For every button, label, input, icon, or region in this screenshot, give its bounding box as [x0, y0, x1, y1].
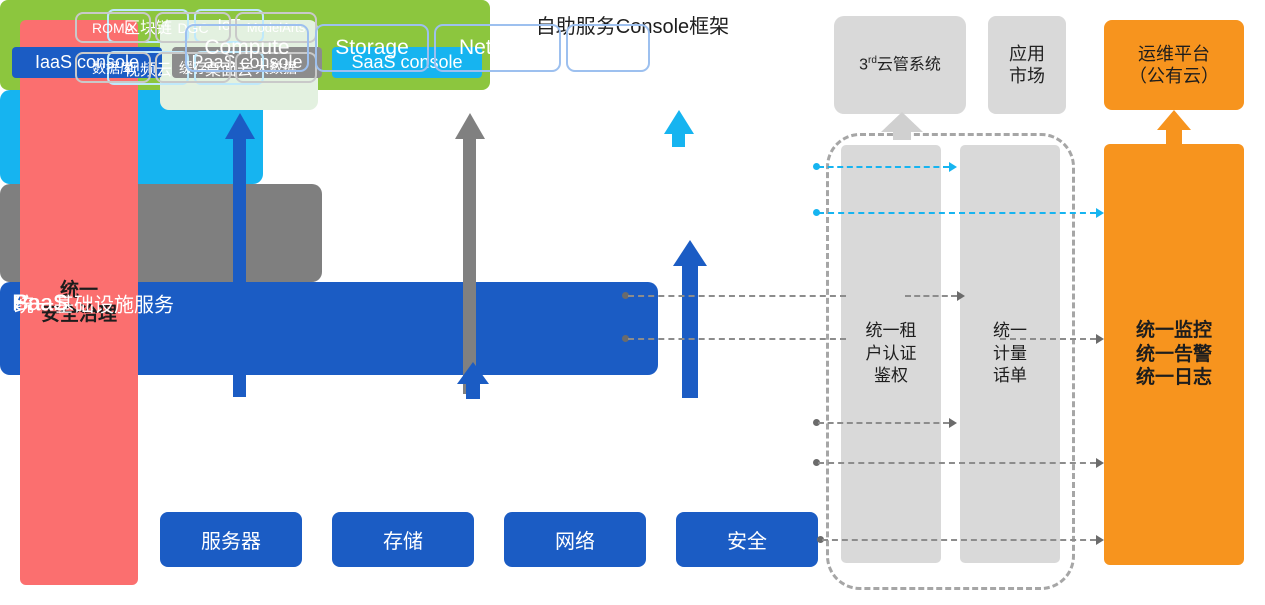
metering-line2: 计量 [993, 343, 1027, 366]
connector-arrow-metering-to-ops-icon [1096, 334, 1104, 344]
connector-infra-to-auth [818, 422, 949, 424]
arrow-to-ops-platform-icon [1157, 110, 1191, 130]
arrow-infra-to-saas-icon [673, 240, 707, 266]
auth-line3: 鉴权 [866, 365, 917, 388]
arrow-shared-to-third-party-icon [881, 112, 923, 132]
ops-body-line3: 统一日志 [1136, 366, 1212, 390]
ops-platform-line2: （公有云） [1129, 65, 1219, 88]
connector-arrow-infra-to-auth-icon [949, 418, 957, 428]
ops-platform-body-box: 统一监控 统一告警 统一日志 [1104, 144, 1244, 565]
connector-saas-to-auth [818, 166, 949, 168]
ops-body-line2: 统一告警 [1136, 343, 1212, 367]
connector-resources-to-ops [822, 539, 1096, 541]
unified-tenant-auth-column: 统一租 户认证 鉴权 [841, 145, 941, 563]
connector-metering-to-ops [1000, 338, 1096, 340]
arrow-infra-to-saas-shaft [682, 262, 698, 398]
arrow-infra-to-api-gateway-shaft [233, 135, 246, 397]
connector-arrow-saas-to-auth-icon [949, 162, 957, 172]
connector-arrow-resources-to-ops-icon [1096, 535, 1104, 545]
unified-metering-billing-column: 统一 计量 话单 [960, 145, 1060, 563]
connector-arrow-auth-to-metering-top-icon [957, 291, 965, 301]
third-party-label: 3rd云管系统 [859, 55, 941, 75]
arrow-paas-to-console-icon [455, 113, 485, 139]
ops-platform-title-box: 运维平台 （公有云） [1104, 20, 1244, 110]
arrow-infra-to-api-gateway-icon [225, 113, 255, 139]
app-market-line2: 市场 [1009, 65, 1045, 88]
connector-saas-to-ops [818, 212, 1096, 214]
third-party-sup: rd [868, 55, 877, 66]
app-market-line1: 应用 [1009, 43, 1045, 66]
connector-arrow-saas-to-ops-icon [1096, 208, 1104, 218]
resource-box-network[interactable]: 网络 [504, 512, 646, 567]
infrastructure-label: 统一基础设施服务 [14, 288, 174, 317]
paas-chip-database[interactable]: 数据库 [75, 52, 151, 83]
third-party-suffix: 云管系统 [877, 56, 941, 73]
arrow-saas-to-console-icon [664, 110, 694, 134]
infra-chip-network[interactable]: Network [434, 24, 561, 72]
infra-chip-cce[interactable]: CCE [566, 24, 650, 72]
paas-chip-roma[interactable]: ROMA [75, 12, 151, 43]
app-market-box: 应用 市场 [988, 16, 1066, 114]
third-party-prefix: 3 [859, 56, 868, 73]
connector-infra-to-ops [818, 462, 1096, 464]
infra-chip-storage[interactable]: Storage [315, 24, 429, 72]
ops-platform-line1: 运维平台 [1129, 43, 1219, 66]
connector-arrow-infra-to-ops-icon [1096, 458, 1104, 468]
arrow-paas-to-console-shaft [463, 136, 476, 394]
infra-chip-compute[interactable]: Compute [185, 24, 309, 72]
diagram-title: 云平台总体架构 [0, 375, 1, 376]
resource-box-security[interactable]: 安全 [676, 512, 818, 567]
metering-line3: 话单 [993, 365, 1027, 388]
resource-box-storage[interactable]: 存储 [332, 512, 474, 567]
auth-line1: 统一租 [866, 320, 917, 343]
connector-auth-to-metering-top [905, 295, 957, 297]
arrow-infra-to-paas-icon [457, 362, 489, 384]
ops-body-line1: 统一监控 [1136, 319, 1212, 343]
resource-box-server[interactable]: 服务器 [160, 512, 302, 567]
auth-line2: 户认证 [866, 343, 917, 366]
connector-paas-to-metering [628, 338, 846, 340]
connector-paas-to-auth [628, 295, 846, 297]
third-party-cloud-mgmt-box: 3rd云管系统 [834, 16, 966, 114]
